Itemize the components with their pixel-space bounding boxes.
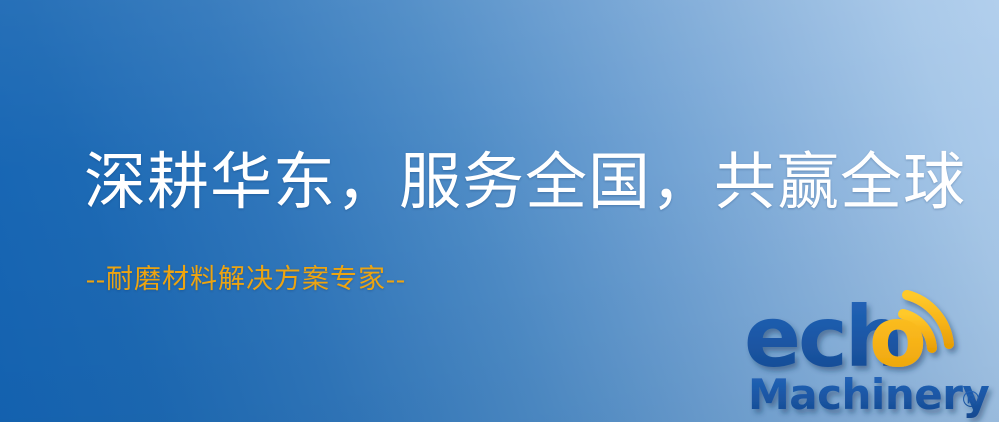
echo-machinery-logo[interactable]: ech o Machinery ® — [744, 292, 994, 418]
hero-banner: 深耕华东，服务全国，共赢全球 --耐磨材料解决方案专家-- — [0, 0, 999, 422]
logo-machinery-text: Machinery — [748, 370, 989, 419]
registered-trademark-icon: ® — [960, 388, 982, 413]
banner-subtitle: --耐磨材料解决方案专家-- — [86, 266, 406, 293]
banner-headline: 深耕华东，服务全国，共赢全球 — [84, 152, 966, 214]
